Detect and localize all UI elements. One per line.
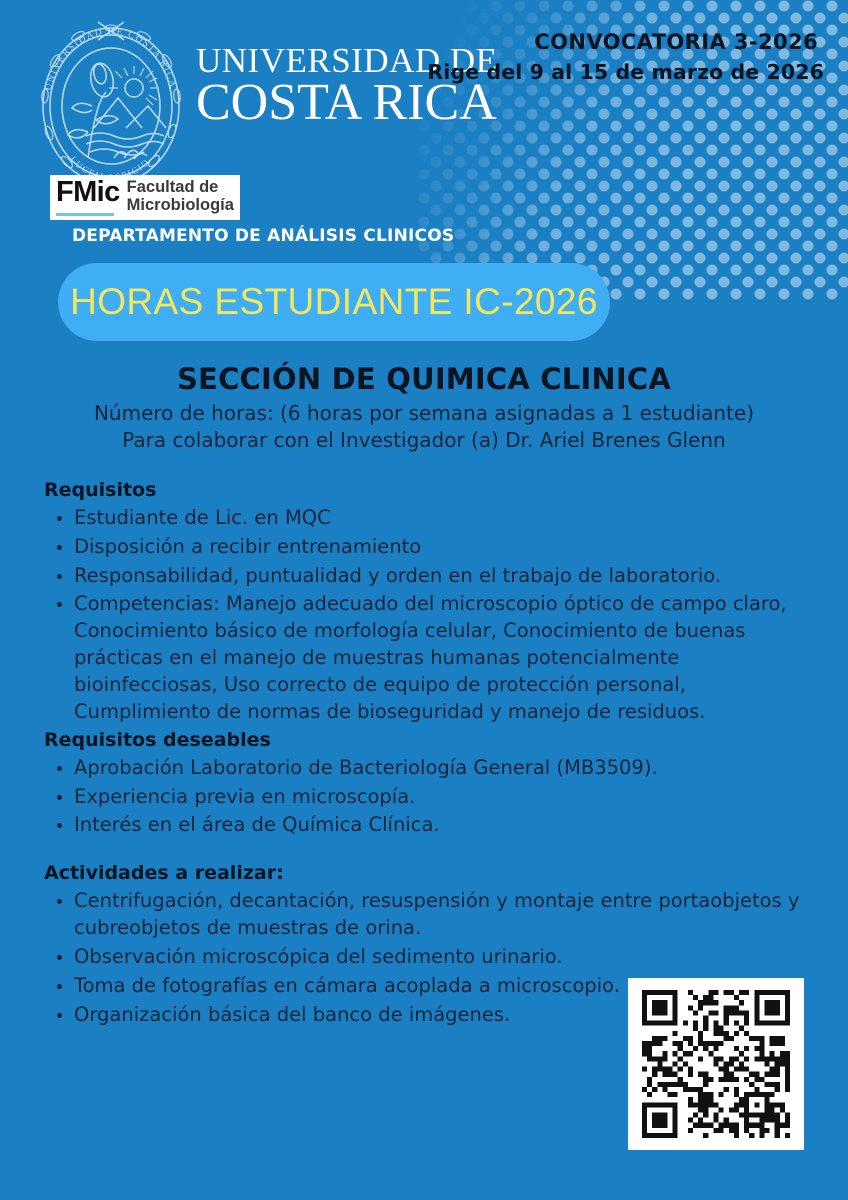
poster-root: UNIVERSIDAD DE COSTA RICA LUCEM ASPICIO …: [0, 0, 848, 1200]
list-item: Estudiante de Lic. en MQC: [44, 505, 814, 532]
poster-header: UNIVERSIDAD DE COSTA RICA LUCEM ASPICIO …: [0, 0, 848, 260]
convocatoria-title: CONVOCATORIA 3-2026: [427, 30, 818, 54]
block-heading-actividades: Actividades a realizar:: [44, 861, 814, 886]
fmic-mark-group: FMic: [56, 178, 127, 216]
list-item: Centrifugación, decantación, resuspensió…: [44, 888, 814, 942]
list-requisitos: Estudiante de Lic. en MQC Disposición a …: [44, 505, 814, 726]
list-item: Responsabilidad, puntualidad y orden en …: [44, 563, 814, 590]
list-item: Competencias: Manejo adecuado del micros…: [44, 591, 814, 726]
svg-text:UNIVERSIDAD DE COSTA RICA: UNIVERSIDAD DE COSTA RICA: [44, 27, 178, 92]
block-heading-requisitos-deseables: Requisitos deseables: [44, 728, 814, 753]
list-item: Disposición a recibir entrenamiento: [44, 534, 814, 561]
fmic-logo: FMic Facultad de Microbiología: [50, 175, 240, 220]
title-banner: HORAS ESTUDIANTE IC-2026: [58, 263, 610, 341]
list-item: Experiencia previa en microscopía.: [44, 784, 814, 811]
title-banner-label: HORAS ESTUDIANTE IC-2026: [70, 281, 598, 323]
fmic-faculty-name: Facultad de Microbiología: [127, 178, 234, 215]
fmic-faculty-line1: Facultad de: [127, 179, 234, 197]
block-heading-requisitos: Requisitos: [44, 478, 814, 503]
intro-lines: Número de horas: (6 horas por semana asi…: [0, 400, 848, 454]
department-label: DEPARTAMENTO DE ANÁLISIS CLINICOS: [72, 226, 454, 246]
convocatoria-block: CONVOCATORIA 3-2026 Rige del 9 al 15 de …: [427, 30, 824, 84]
ucr-wordmark-line2: COSTA RICA: [196, 78, 496, 127]
intro-line-hours: Número de horas: (6 horas por semana asi…: [0, 400, 848, 427]
list-requisitos-deseables: Aprobación Laboratorio de Bacteriología …: [44, 755, 814, 840]
list-item: Observación microscópica del sedimento u…: [44, 944, 814, 971]
list-item: Interés en el área de Química Clínica.: [44, 812, 814, 839]
ucr-seal-icon: UNIVERSIDAD DE COSTA RICA LUCEM ASPICIO: [26, 16, 196, 186]
fmic-faculty-line2: Microbiología: [127, 197, 234, 215]
convocatoria-date-range: Rige del 9 al 15 de marzo de 2026: [427, 60, 824, 84]
section-title: SECCIÓN DE QUIMICA CLINICA: [0, 362, 848, 396]
intro-line-researcher: Para colaborar con el Investigador (a) D…: [0, 427, 848, 454]
content-body: Requisitos Estudiante de Lic. en MQC Dis…: [44, 478, 814, 1031]
qr-code[interactable]: [628, 978, 804, 1150]
list-item: Aprobación Laboratorio de Bacteriología …: [44, 755, 814, 782]
fmic-underline-rule: [56, 213, 114, 216]
fmic-mark-text: FMic: [56, 178, 120, 207]
